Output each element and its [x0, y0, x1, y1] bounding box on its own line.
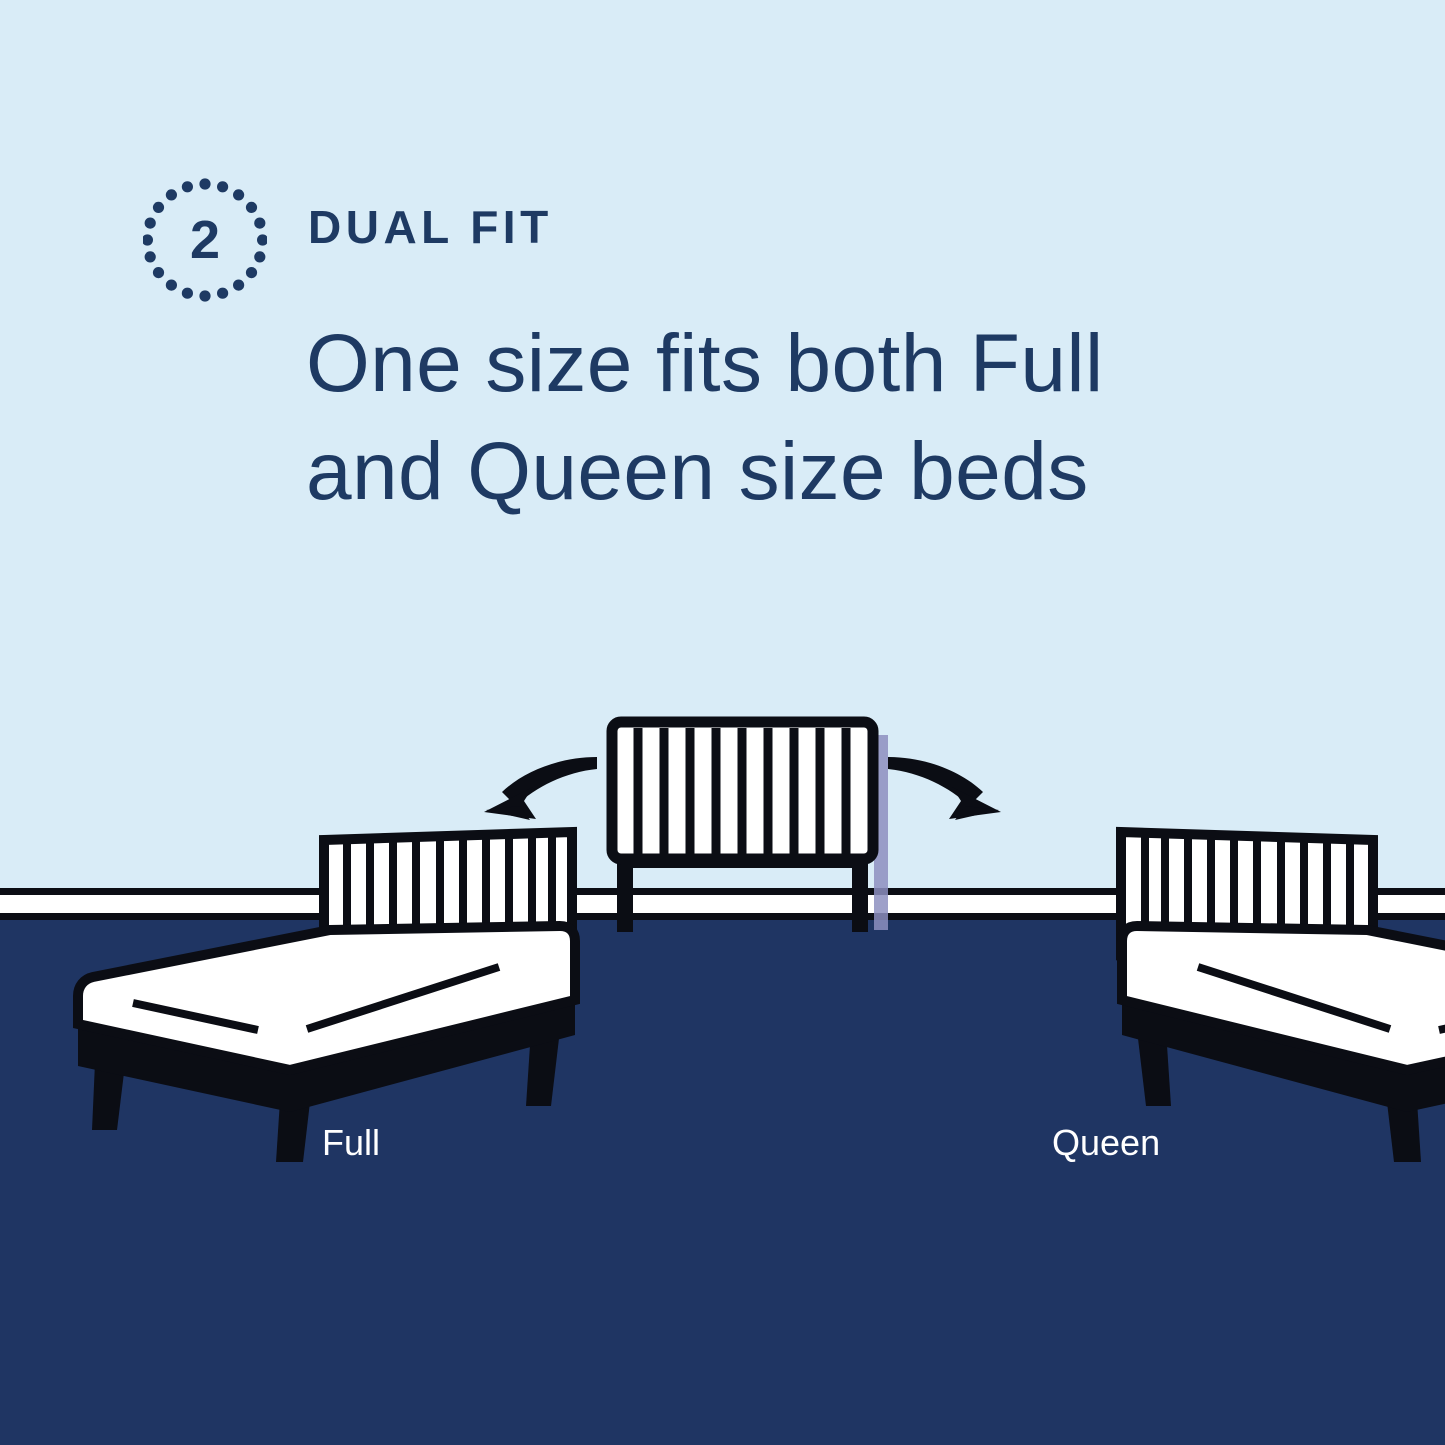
bed-label-queen: Queen [1052, 1122, 1160, 1164]
bed-queen [1121, 832, 1445, 1162]
illustration-scene [0, 0, 1445, 1445]
headboard-standalone [612, 722, 888, 932]
poster-canvas: 2 DUAL FIT One size fits both Full and Q… [0, 0, 1445, 1445]
bed-label-full: Full [322, 1122, 380, 1164]
arrow-curved-right [888, 757, 1001, 820]
beds-illustration [0, 0, 1445, 1445]
arrow-curved-left [484, 757, 597, 820]
bed-full [78, 832, 575, 1162]
